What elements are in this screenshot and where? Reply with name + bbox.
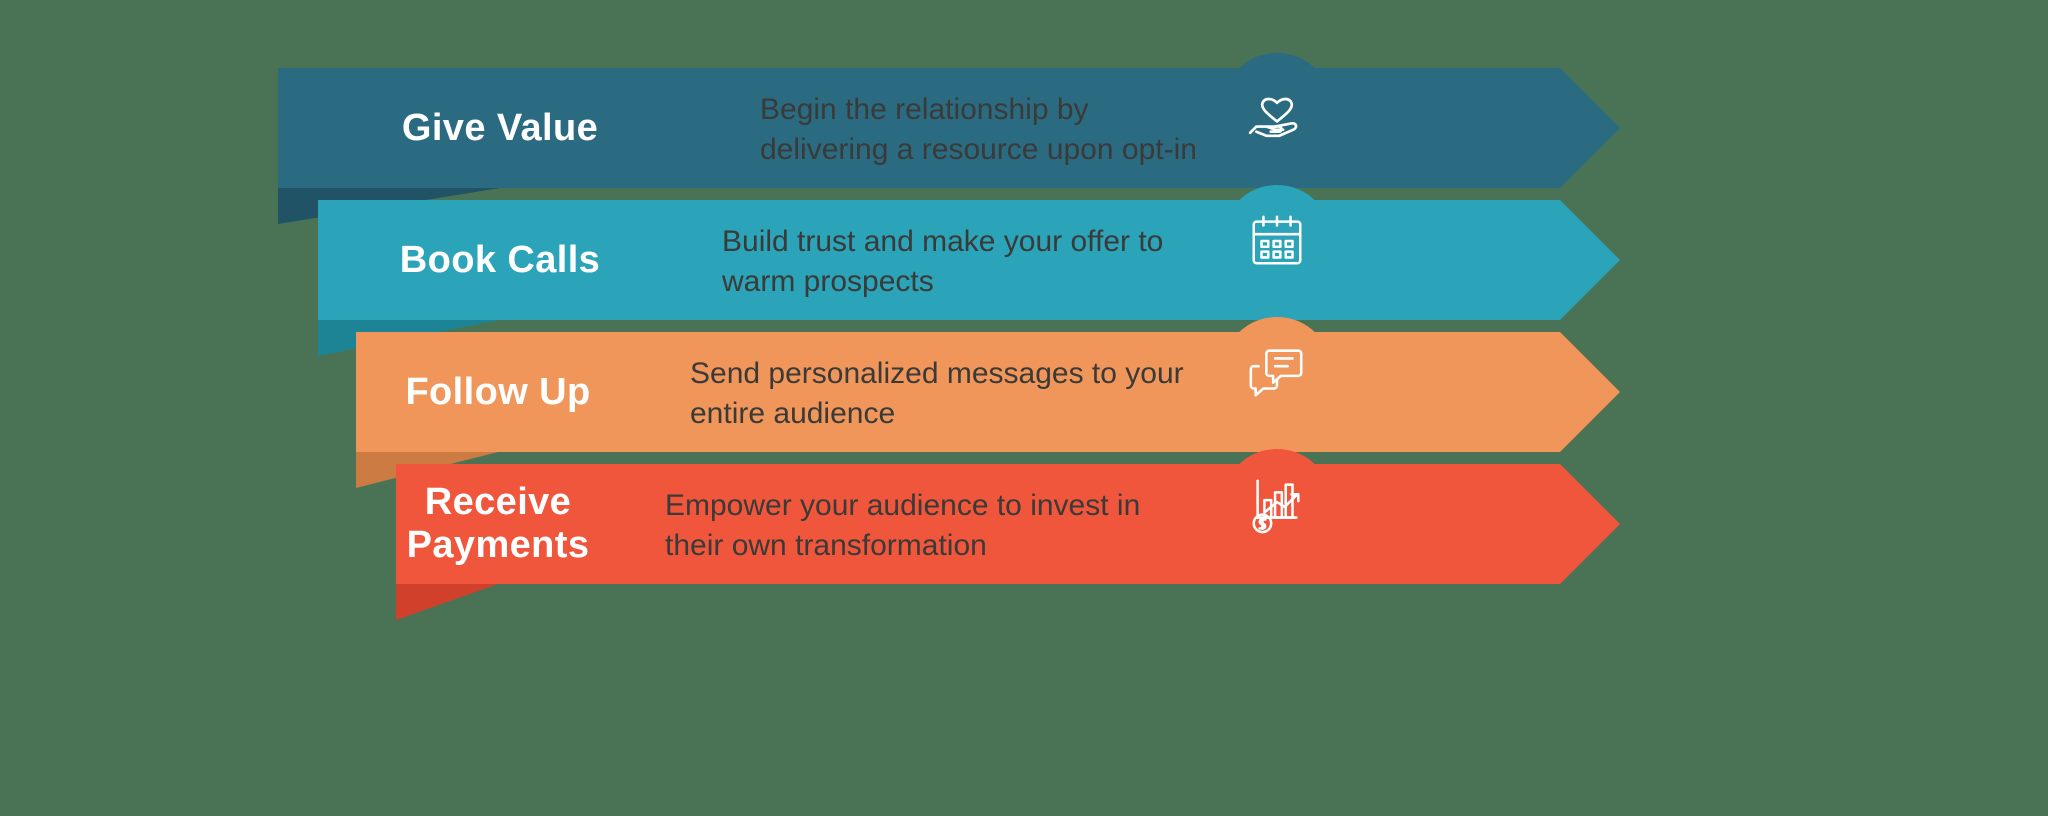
step-label-box: Follow Up — [356, 332, 640, 452]
calendar-icon — [1246, 209, 1308, 271]
step-description: Begin the relationship by delivering a r… — [760, 90, 1280, 170]
step-icon-circle — [1222, 317, 1332, 427]
banner-arrow-tip — [1560, 200, 1620, 320]
infographic-canvas: Begin the relationship by delivering a r… — [0, 0, 2048, 816]
banner-arrow-tip — [1560, 332, 1620, 452]
process-step-row: Empower your audience to invest in their… — [0, 464, 2048, 584]
step-icon-circle — [1222, 449, 1332, 559]
label-box-tail — [396, 584, 600, 620]
heart-in-hand-icon — [1244, 75, 1310, 141]
step-label-text: Book Calls — [400, 239, 600, 282]
banner-arrow-tip — [1560, 68, 1620, 188]
step-label-text: Follow Up — [405, 371, 590, 414]
chat-bubbles-icon — [1246, 341, 1308, 403]
step-description: Empower your audience to invest in their… — [665, 486, 1225, 566]
process-step-row: Send personalized messages to your entir… — [0, 332, 2048, 452]
step-label-box: Receive Payments — [396, 464, 600, 584]
step-label-text: Receive Payments — [407, 481, 590, 566]
step-label-box: Book Calls — [318, 200, 682, 320]
step-description: Send personalized messages to your entir… — [690, 354, 1250, 434]
step-icon-circle — [1222, 53, 1332, 163]
step-label-box: Give Value — [278, 68, 722, 188]
process-step-row: Begin the relationship by delivering a r… — [0, 68, 2048, 188]
step-icon-circle — [1222, 185, 1332, 295]
banner-arrow-tip — [1560, 464, 1620, 584]
step-label-text: Give Value — [402, 107, 598, 150]
step-description: Build trust and make your offer to warm … — [722, 222, 1262, 302]
growth-chart-dollar-icon — [1246, 473, 1308, 535]
